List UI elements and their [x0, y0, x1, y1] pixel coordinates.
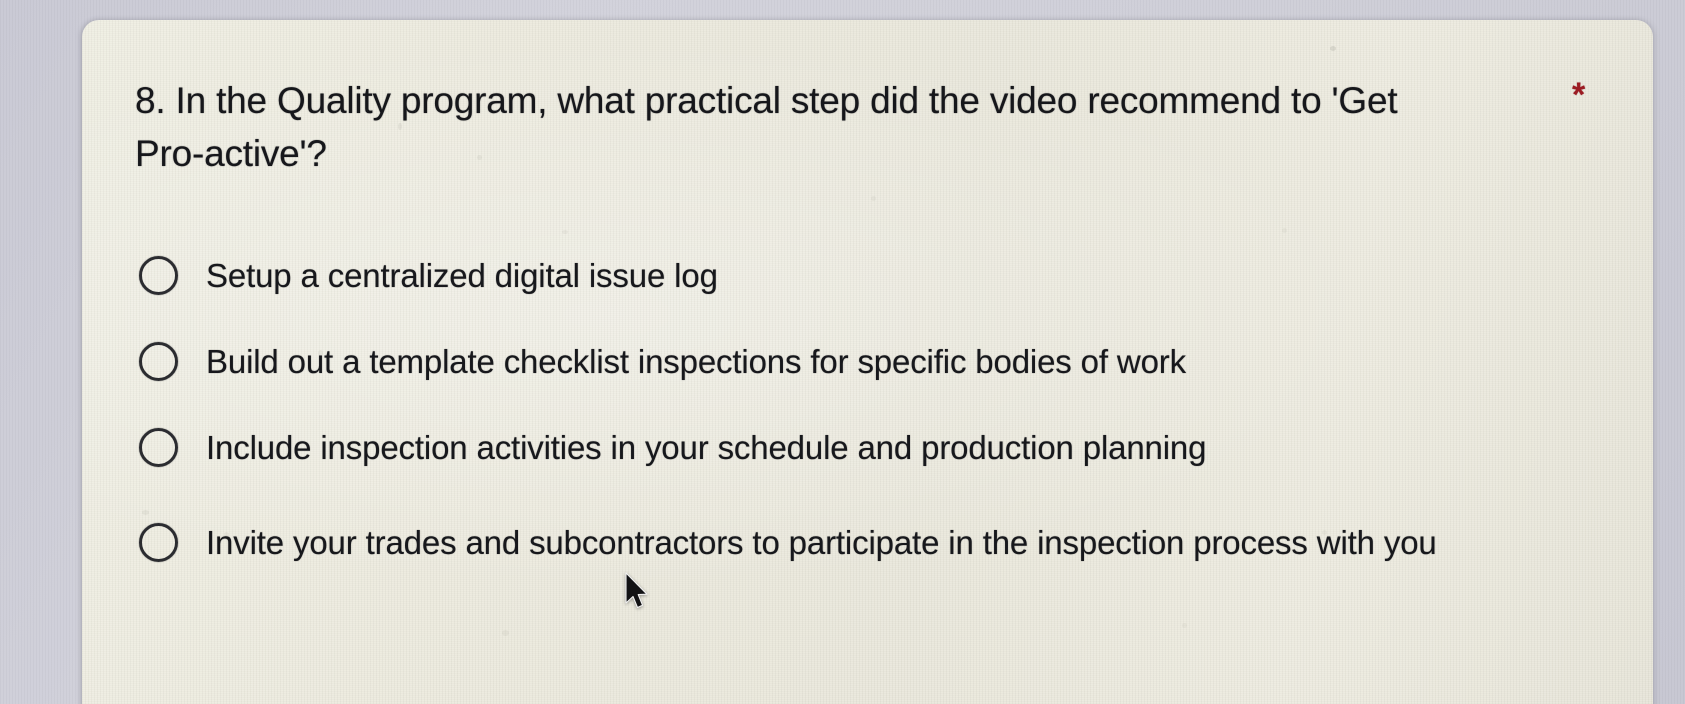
- dust-speck: [871, 196, 876, 201]
- dust-speck: [1330, 46, 1336, 51]
- radio-option-4[interactable]: Invite your trades and subcontractors to…: [135, 490, 1555, 594]
- radio-button-icon[interactable]: [139, 523, 178, 562]
- radio-option-label[interactable]: Setup a centralized digital issue log: [206, 252, 718, 299]
- radio-option-1[interactable]: Setup a centralized digital issue log: [135, 232, 1555, 318]
- photographed-screen-scene: 8. In the Quality program, what practica…: [0, 0, 1685, 704]
- radio-button-icon[interactable]: [139, 428, 178, 467]
- radio-button-icon[interactable]: [139, 342, 178, 381]
- dust-speck: [1182, 623, 1187, 628]
- radio-option-3[interactable]: Include inspection activities in your sc…: [135, 404, 1555, 490]
- radio-option-2[interactable]: Build out a template checklist inspectio…: [135, 318, 1555, 404]
- required-asterisk: *: [1572, 78, 1585, 112]
- dust-speck: [502, 630, 509, 636]
- radio-option-list: Setup a centralized digital issue log Bu…: [135, 232, 1555, 594]
- radio-option-label[interactable]: Include inspection activities in your sc…: [206, 424, 1206, 471]
- radio-option-label[interactable]: Invite your trades and subcontractors to…: [206, 519, 1437, 566]
- radio-button-icon[interactable]: [139, 256, 178, 295]
- question-card: 8. In the Quality program, what practica…: [82, 20, 1653, 704]
- radio-option-label[interactable]: Build out a template checklist inspectio…: [206, 338, 1186, 385]
- question-title: 8. In the Quality program, what practica…: [135, 74, 1425, 180]
